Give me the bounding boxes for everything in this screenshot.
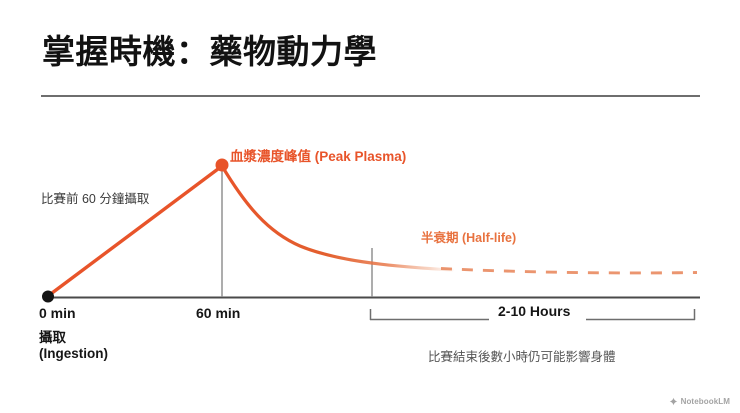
peak-plasma-label: 血漿濃度峰值 (Peak Plasma) bbox=[230, 145, 406, 165]
ingestion-point-marker bbox=[42, 291, 54, 303]
ingestion-note-label: 比賽前 60 分鐘攝取 bbox=[41, 188, 149, 207]
notebooklm-watermark-label: NotebookLM bbox=[681, 397, 730, 406]
notebooklm-watermark: NotebookLM bbox=[669, 397, 730, 406]
notebooklm-logo-icon bbox=[669, 397, 678, 406]
elimination-curve bbox=[222, 166, 452, 270]
residual-dashed-curve bbox=[441, 269, 697, 273]
peak-plasma-point-marker bbox=[216, 159, 229, 172]
half-life-label: 半衰期 (Half-life) bbox=[421, 227, 516, 246]
axis-tick-0min-sub-zh: 攝取 bbox=[39, 326, 66, 346]
axis-tick-60min: 60 min bbox=[196, 305, 240, 321]
axis-tick-0min-sub-en: (Ingestion) bbox=[39, 346, 108, 361]
duration-bracket-label: 2-10 Hours bbox=[498, 303, 570, 319]
duration-bracket-caption: 比賽結束後數小時仍可能影響身體 bbox=[428, 346, 616, 365]
absorption-curve bbox=[48, 166, 222, 296]
slide-canvas: 掌握時機：藥物動力學 bbox=[0, 0, 740, 413]
axis-tick-0min: 0 min bbox=[39, 305, 76, 321]
